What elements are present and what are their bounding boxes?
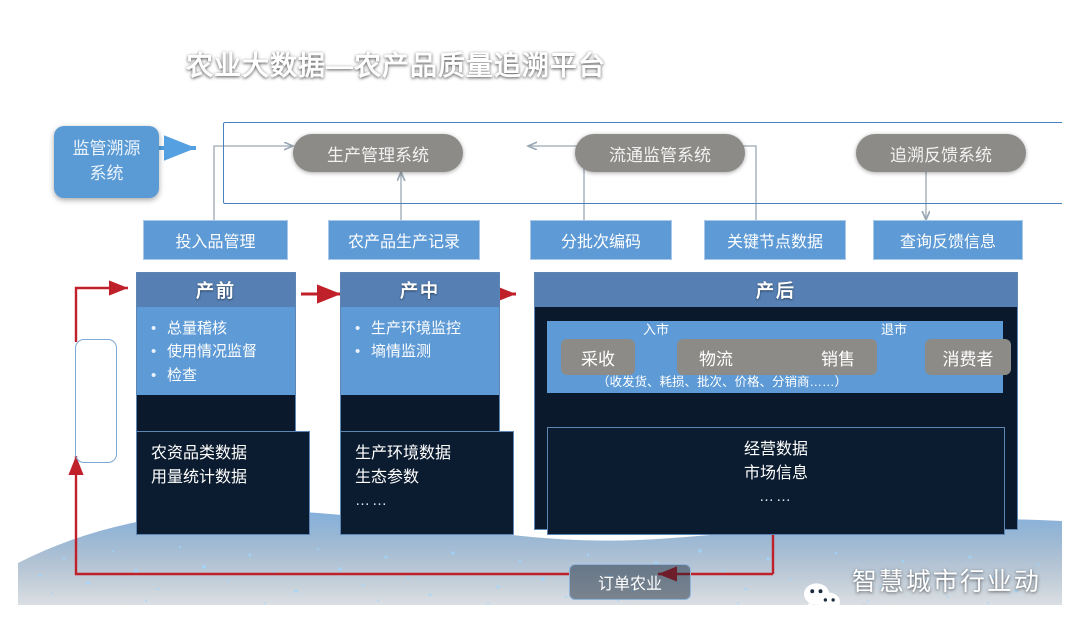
stage-bullets-pre-production: 总量稽核 使用情况监督 检查 [137, 307, 295, 395]
output-line: 经营数据 [548, 438, 1004, 462]
stage-header-pre-production: 产前 [137, 273, 295, 307]
slide-image: 农业大数据—农产品质量追溯平台 [0, 0, 1080, 619]
system-pill-circulation-supervision[interactable]: 流通监管系统 [575, 134, 745, 172]
regulator-line2: 系统 [90, 162, 124, 187]
data-chip-production-record[interactable]: 农产品生产记录 [328, 220, 480, 260]
guide-char-3: 生 [88, 401, 105, 420]
output-ellipsis: …… [355, 490, 513, 513]
list-item: 总量稽核 [167, 317, 289, 340]
list-item-continued: 检查 [167, 364, 289, 387]
stage-bullets-mid-production: 生产环境监控 墒情监测 [341, 307, 499, 395]
data-chip-query-feedback[interactable]: 查询反馈信息 [873, 220, 1023, 260]
post-production-flow-caption: （收发货、耗损、批次、价格、分销商……） [597, 371, 847, 390]
stage-header-mid-production: 产中 [341, 273, 499, 307]
guide-char-1: 指 [88, 363, 105, 382]
guide-char-4: 产 [88, 420, 105, 439]
page-title: 农业大数据—农产品质量追溯平台 [186, 44, 606, 83]
output-line: 用量统计数据 [151, 466, 309, 490]
regulator-traceability-system-box[interactable]: 监管溯源 系统 [54, 126, 159, 198]
system-pill-production-management[interactable]: 生产管理系统 [293, 134, 463, 172]
order-agriculture-box[interactable]: 订单农业 [569, 564, 691, 600]
output-ellipsis: …… [548, 486, 1004, 509]
guide-char-2: 导 [88, 382, 105, 401]
stage-column-post-production: 产后 采收 物流 销售 消费者 入市 退市 （收发货、耗损、批次、价格、分销商…… [534, 272, 1018, 530]
stage-output-mid-production: 生产环境数据 生态参数 …… [340, 431, 514, 535]
stage-output-post-production: 经营数据 市场信息 …… [547, 427, 1005, 535]
flow-node-logistics[interactable]: 物流 [699, 345, 733, 370]
output-line: 农资品类数据 [151, 442, 309, 466]
output-line: 市场信息 [548, 462, 1004, 486]
post-production-flow-band: 采收 物流 销售 消费者 入市 退市 （收发货、耗损、批次、价格、分销商……） [547, 321, 1003, 393]
system-pill-traceability-feedback[interactable]: 追溯反馈系统 [856, 134, 1026, 172]
guide-production-label: 指 导 生 产 [75, 339, 117, 463]
data-chip-input-management[interactable]: 投入品管理 [143, 220, 288, 260]
wechat-icon [803, 582, 842, 606]
regulator-line1: 监管溯源 [73, 137, 141, 162]
flow-node-sales[interactable]: 销售 [821, 345, 855, 370]
stage-header-post-production: 产后 [535, 273, 1017, 307]
output-line: 生态参数 [355, 466, 513, 490]
output-line: 生产环境数据 [355, 442, 513, 466]
list-item: 使用情况监督 [167, 340, 289, 363]
stage-column-mid-production: 产中 生产环境监控 墒情监测 生产环境数据 生态参数 …… [340, 272, 500, 530]
flow-node-logistics-sales-group: 物流 销售 [677, 339, 877, 375]
list-item: 生产环境监控 [371, 317, 493, 340]
watermark-text: 智慧城市行业动态 [852, 562, 1062, 605]
stage-output-pre-production: 农资品类数据 用量统计数据 [136, 431, 310, 535]
flow-edge-label-enter-market: 入市 [643, 319, 669, 338]
diagram-canvas: 农业大数据—农产品质量追溯平台 [18, 14, 1062, 605]
data-chip-key-node-data[interactable]: 关键节点数据 [704, 220, 846, 260]
list-item: 墒情监测 [371, 340, 493, 363]
watermark: 智慧城市行业动态 [803, 562, 1062, 605]
flow-node-consumer[interactable]: 消费者 [925, 339, 1011, 375]
data-chip-batch-coding[interactable]: 分批次编码 [530, 220, 672, 260]
flow-node-harvest[interactable]: 采收 [561, 339, 635, 375]
stage-column-pre-production: 产前 总量稽核 使用情况监督 检查 农资品类数据 用量统计数据 [136, 272, 296, 530]
flow-edge-label-exit-market: 退市 [881, 319, 907, 338]
